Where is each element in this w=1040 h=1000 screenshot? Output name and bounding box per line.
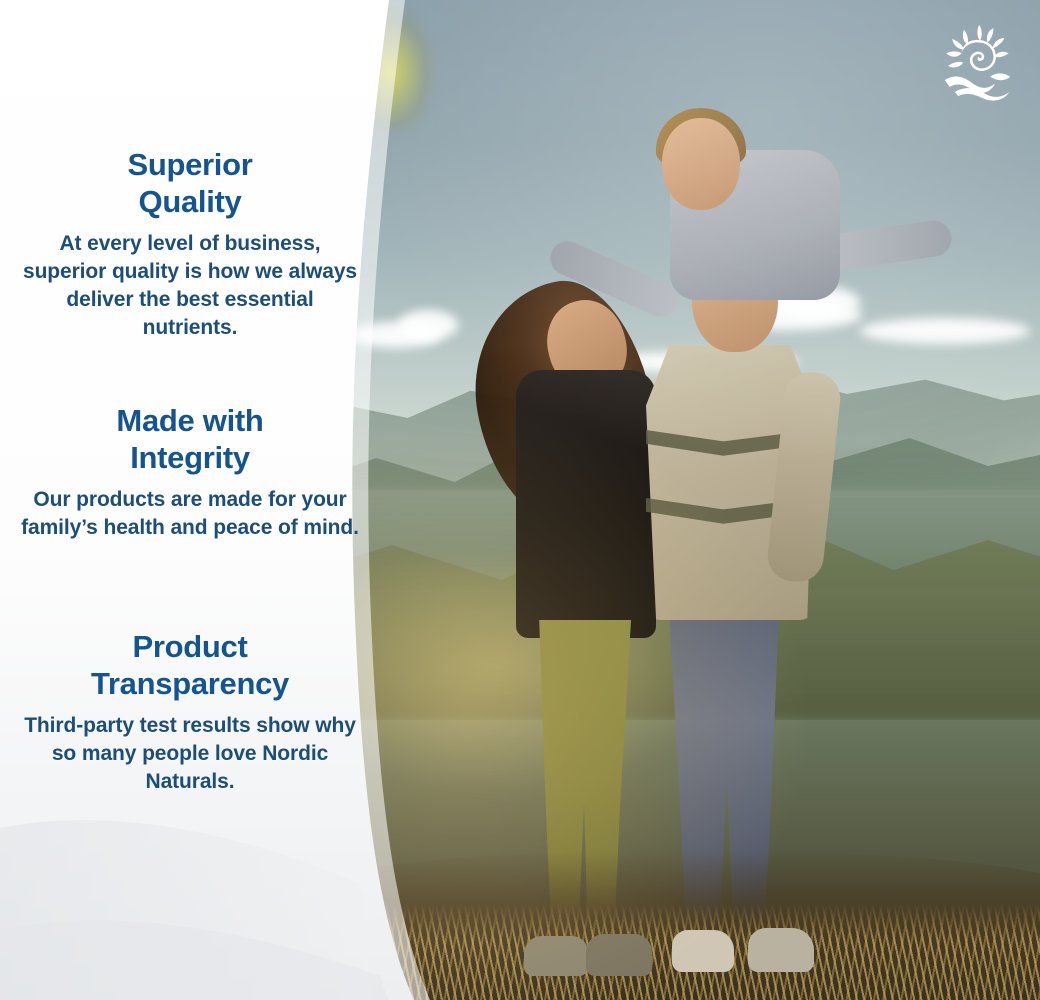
value-prop-heading: Made with Integrity bbox=[20, 402, 360, 476]
value-prop-body: Third-party test results show why so man… bbox=[20, 712, 360, 796]
value-props-column: Superior Quality At every level of busin… bbox=[0, 0, 390, 1000]
promo-banner: Superior Quality At every level of busin… bbox=[0, 0, 1040, 1000]
woman-jacket bbox=[516, 370, 656, 638]
man-shoe bbox=[672, 930, 734, 972]
family-photo bbox=[340, 0, 1040, 1000]
value-prop-heading: Superior Quality bbox=[20, 146, 360, 220]
sun-wave-logo-icon bbox=[938, 18, 1022, 102]
value-prop-heading: Product Transparency bbox=[20, 628, 360, 702]
value-prop-body: At every level of business, superior qua… bbox=[20, 230, 360, 342]
heading-line-2: Quality bbox=[139, 184, 242, 219]
heading-line-2: Integrity bbox=[130, 440, 250, 475]
value-prop-superior-quality: Superior Quality At every level of busin… bbox=[20, 146, 360, 342]
heading-line-1: Superior bbox=[127, 147, 252, 182]
value-prop-product-transparency: Product Transparency Third-party test re… bbox=[20, 628, 360, 796]
woman-shoe bbox=[586, 934, 652, 976]
heading-line-2: Transparency bbox=[91, 666, 289, 701]
man-shoe bbox=[748, 928, 814, 972]
woman-shoe bbox=[524, 936, 588, 976]
value-prop-body: Our products are made for your family’s … bbox=[20, 486, 360, 542]
heading-line-1: Product bbox=[132, 629, 247, 664]
value-prop-made-with-integrity: Made with Integrity Our products are mad… bbox=[20, 402, 360, 542]
child-head bbox=[662, 118, 740, 210]
cloud-icon bbox=[398, 310, 458, 340]
cloud-icon bbox=[860, 318, 1030, 344]
heading-line-1: Made with bbox=[116, 403, 263, 438]
